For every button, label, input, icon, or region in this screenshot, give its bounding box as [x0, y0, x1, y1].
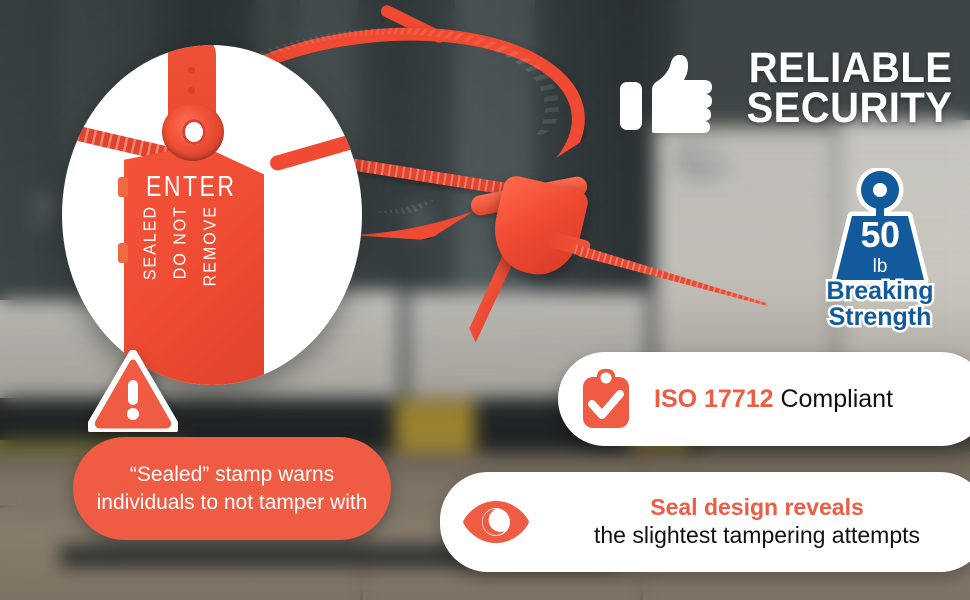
eye-icon: [440, 498, 552, 546]
seal-tail: [573, 244, 768, 310]
badge-value: 50: [800, 214, 960, 256]
warning-triangle-icon: [88, 350, 178, 432]
feature-card-iso: ISO 17712 Compliant: [558, 352, 970, 446]
badge-unit: lb: [800, 256, 960, 278]
tag-text-sealed: SEALED: [141, 205, 161, 280]
page-headline: RELIABLE SECURITY: [731, 48, 952, 128]
iso-text: ISO 17712 Compliant: [654, 385, 962, 414]
tag-strap-exit: [268, 125, 362, 172]
badge-caption-line-2: Strength: [792, 304, 968, 330]
clipboard-check-icon: [558, 368, 654, 430]
tamper-headline: Seal design reveals: [552, 494, 962, 522]
breaking-strength-badge: 50 lb Breaking Strength: [800, 168, 960, 328]
feature-card-tamper-body: Seal design reveals the slightest tamper…: [552, 494, 970, 550]
tag-dot-2: [188, 87, 195, 94]
tag-hole: [182, 119, 206, 145]
caption-pill-text: “Sealed” stamp warns individuals to not …: [79, 461, 386, 516]
lens-content: ENTER SEALED DO NOT REMOVE: [62, 45, 362, 385]
product-infographic: H HYUNDAI 320757 PRINSEA TRAILER 7 5: [0, 0, 970, 600]
feature-card-tamper: Seal design reveals the slightest tamper…: [440, 472, 970, 572]
caption-line-1: “Sealed” stamp warns: [97, 461, 368, 489]
tag-heading-text: ENTER: [146, 170, 236, 204]
caption-pill: “Sealed” stamp warns individuals to not …: [73, 437, 391, 540]
tag-nub-1: [118, 177, 128, 197]
feature-card-iso-body: ISO 17712 Compliant: [654, 385, 970, 414]
iso-highlight: ISO 17712: [654, 385, 774, 413]
caption-line-2: individuals to not tamper with: [97, 489, 368, 517]
tag-text-remove: REMOVE: [201, 205, 221, 286]
tag-nub-2: [118, 243, 128, 263]
badge-caption: Breaking Strength: [792, 278, 968, 331]
thumbs-up-icon: [618, 52, 714, 138]
tag-dot-1: [188, 67, 195, 74]
tag-text-do-not: DO NOT: [171, 205, 191, 279]
iso-rest: Compliant: [774, 385, 894, 413]
headline-line-1: RELIABLE: [746, 48, 952, 88]
headline-line-2: SECURITY: [746, 88, 952, 128]
tamper-subline: the slightest tampering attempts: [552, 521, 962, 550]
badge-caption-line-1: Breaking: [792, 278, 968, 304]
magnifier-lens: ENTER SEALED DO NOT REMOVE: [62, 45, 362, 385]
